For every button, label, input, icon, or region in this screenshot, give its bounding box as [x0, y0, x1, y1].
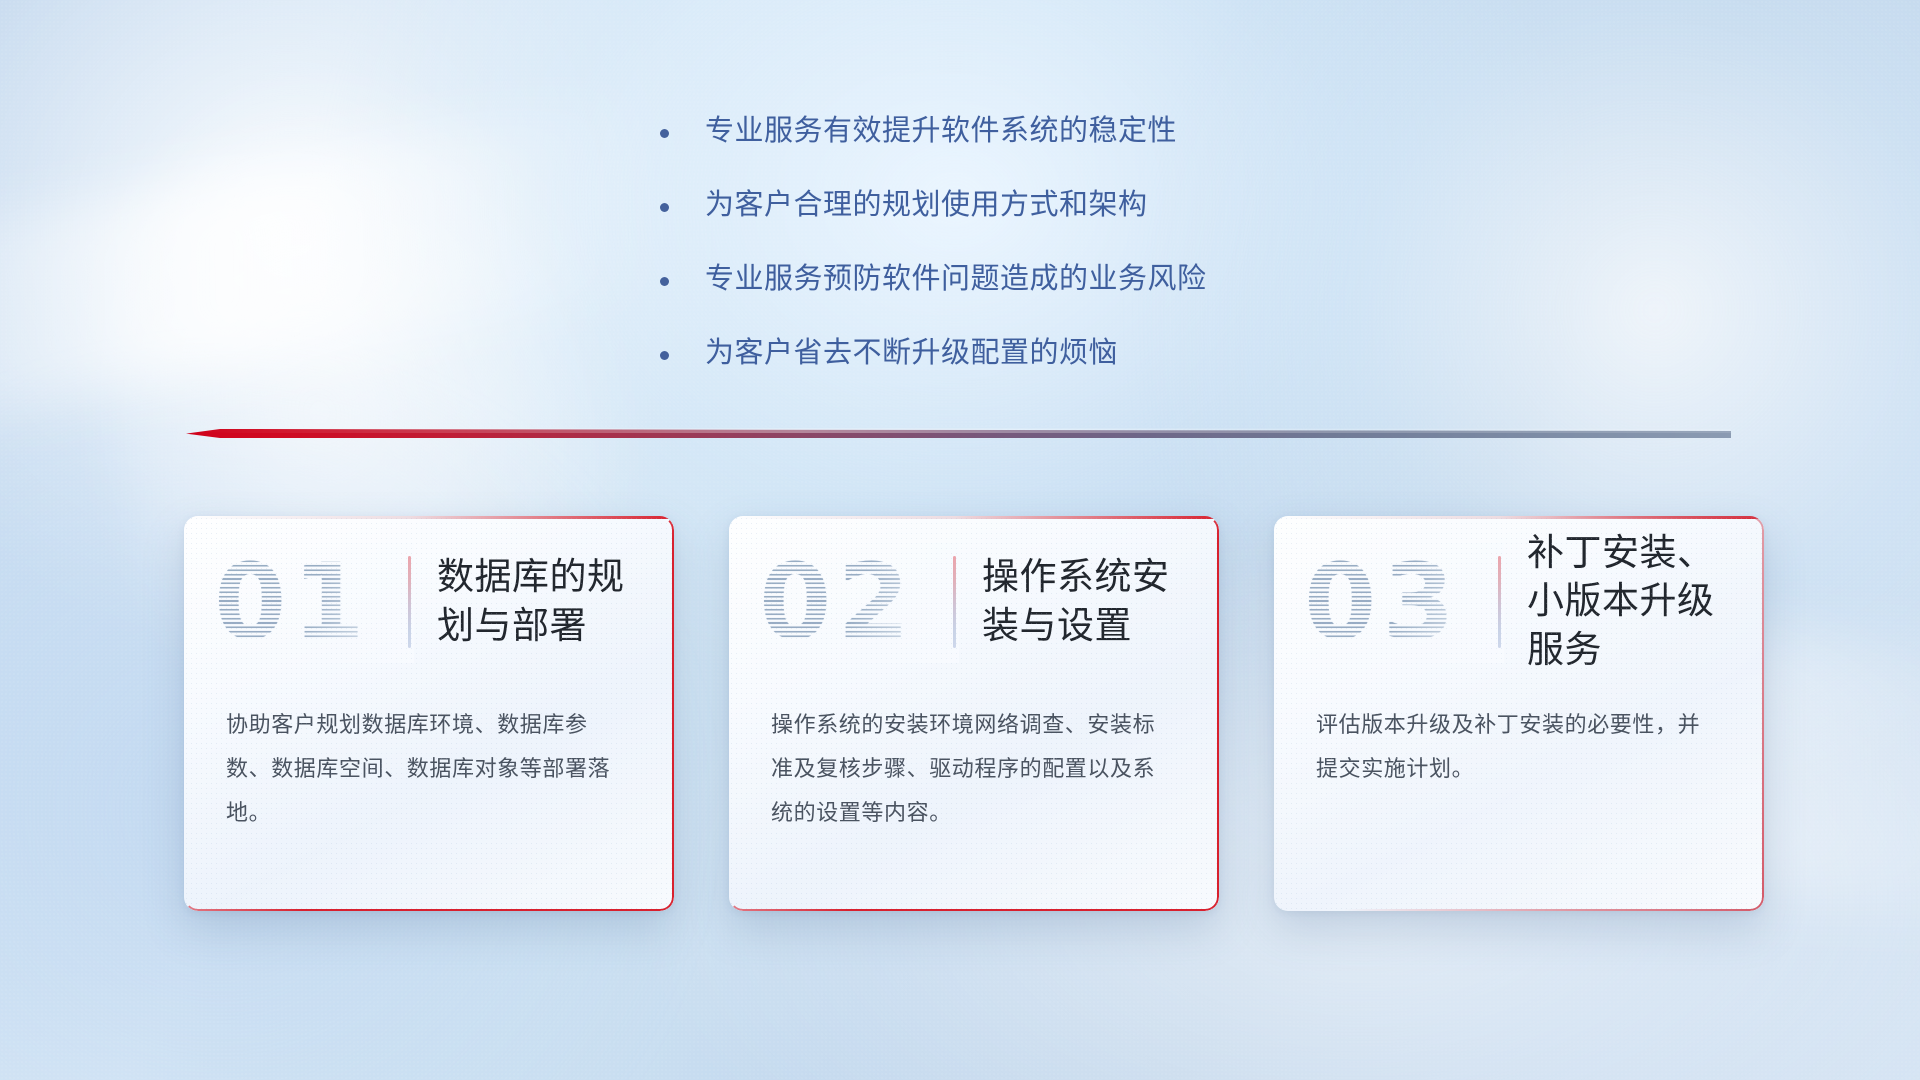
bullet-dot-icon	[660, 203, 669, 212]
list-item: 专业服务有效提升软件系统的稳定性	[660, 110, 1440, 152]
card-number-watermark: 03	[1304, 543, 1492, 661]
card-body-text: 操作系统的安装环境网络调查、安装标准及复核步骤、驱动程序的配置以及系统的设置等内…	[729, 651, 1219, 835]
bullet-text: 专业服务预防软件问题造成的业务风险	[705, 258, 1207, 300]
card-header: 03 补丁安装、小版本升级服务	[1274, 516, 1764, 651]
card-title: 数据库的规划与部署	[437, 553, 648, 649]
divider-sheen	[186, 428, 1731, 433]
card-number-watermark: 01	[214, 543, 402, 661]
benefits-bullet-list: 专业服务有效提升软件系统的稳定性 为客户合理的规划使用方式和架构 专业服务预防软…	[660, 110, 1440, 406]
card-divider-bar	[408, 556, 411, 648]
list-item: 专业服务预防软件问题造成的业务风险	[660, 258, 1440, 300]
card-number-text: 03	[1304, 543, 1461, 661]
card-divider-bar	[1498, 556, 1501, 648]
service-card[interactable]: 01 数据库的规划与部署 协助客户规划数据库环境、数据库参数、数据库空间、数据库…	[184, 516, 674, 911]
card-number-text: 02	[759, 543, 916, 661]
card-number-watermark: 02	[759, 543, 947, 661]
slide-canvas: 专业服务有效提升软件系统的稳定性 为客户合理的规划使用方式和架构 专业服务预防软…	[0, 0, 1920, 1080]
section-divider	[186, 425, 1731, 443]
card-header: 01 数据库的规划与部署	[184, 516, 674, 651]
card-title: 操作系统安装与设置	[982, 553, 1193, 649]
bullet-dot-icon	[660, 351, 669, 360]
service-card[interactable]: 03 补丁安装、小版本升级服务 评估版本升级及补丁安装的必要性，并提交实施计划。	[1274, 516, 1764, 911]
card-header: 02 操作系统安装与设置	[729, 516, 1219, 651]
bullet-text: 为客户省去不断升级配置的烦恼	[705, 332, 1118, 374]
bullet-text: 为客户合理的规划使用方式和架构	[705, 184, 1148, 226]
bullet-dot-icon	[660, 129, 669, 138]
service-card[interactable]: 02 操作系统安装与设置 操作系统的安装环境网络调查、安装标准及复核步骤、驱动程…	[729, 516, 1219, 911]
list-item: 为客户合理的规划使用方式和架构	[660, 184, 1440, 226]
card-body-text: 评估版本升级及补丁安装的必要性，并提交实施计划。	[1274, 651, 1764, 791]
bullet-dot-icon	[660, 277, 669, 286]
bullet-text: 专业服务有效提升软件系统的稳定性	[705, 110, 1177, 152]
card-body-text: 协助客户规划数据库环境、数据库参数、数据库空间、数据库对象等部署落地。	[184, 651, 674, 835]
list-item: 为客户省去不断升级配置的烦恼	[660, 332, 1440, 374]
service-card-row: 01 数据库的规划与部署 协助客户规划数据库环境、数据库参数、数据库空间、数据库…	[184, 516, 1764, 911]
card-divider-bar	[953, 556, 956, 648]
card-number-text: 01	[214, 543, 371, 661]
